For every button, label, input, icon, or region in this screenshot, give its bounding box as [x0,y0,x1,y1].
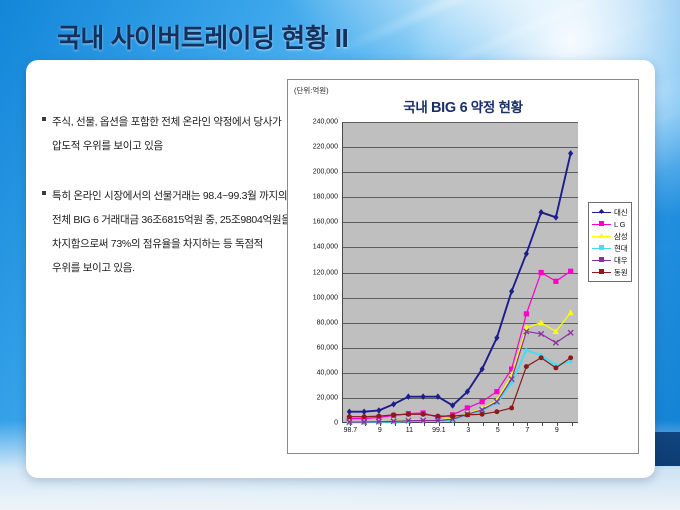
legend-label: L G [614,220,625,229]
chart-title-suffix: 약정 현황 [467,100,522,115]
chart-legend: 대신L G삼성현대대우동원 [588,202,632,282]
data-point-marker [450,414,455,419]
x-axis-tick-label: 11 [406,427,413,434]
y-axis-tick-label: 80,000 [317,319,338,326]
data-point-marker [362,414,367,419]
legend-label: 삼성 [614,231,627,242]
x-axis-tick-label: 3 [466,427,470,434]
legend-marker-icon [592,267,611,277]
data-point-marker [509,405,514,410]
data-point-marker [391,401,396,408]
legend-item-5: 대우 [592,254,627,266]
y-axis-tick-label: 160,000 [313,219,338,226]
data-point-marker [435,393,440,400]
data-point-marker [568,355,573,360]
data-point-marker [435,414,440,419]
chart-container: (단위:억원) 국내 BIG 6 약정 현황 240,000220,000200… [287,79,639,454]
y-axis-tick-label: 200,000 [313,169,338,176]
legend-marker-icon [592,219,611,229]
y-axis-tick-label: 140,000 [313,244,338,251]
series-대신 [347,150,573,415]
data-point-marker [553,214,558,221]
data-point-marker [568,330,573,335]
data-point-marker [362,408,367,415]
data-point-marker [480,412,485,417]
legend-label: 대우 [614,255,627,266]
y-axis-tick-label: 60,000 [317,344,338,351]
data-point-marker [568,150,573,157]
data-point-marker [406,412,411,417]
data-point-marker [347,408,352,415]
list-item: 특히 온라인 시장에서의 선물거래는 98.4~99.3월 까지의 전체 BIG… [42,184,292,280]
data-point-marker [376,407,381,414]
legend-marker-icon [592,231,611,241]
legend-label: 동원 [614,267,627,278]
series-삼성 [346,309,573,424]
data-point-marker [524,364,529,369]
x-axis-tick-label: 9 [378,427,382,434]
y-axis-tick-label: 120,000 [313,269,338,276]
chart-title-emphasis: BIG 6 [431,100,467,116]
data-point-marker [524,311,529,316]
data-point-marker [539,209,544,216]
bullet-square-icon [42,191,46,195]
data-point-marker [553,279,558,284]
content-panel: 주식, 선물, 옵션을 포함한 전체 온라인 약정에서 당사가 압도적 우위를 … [26,60,655,478]
data-point-marker [568,309,574,315]
data-point-marker [539,270,544,275]
bullet-list: 주식, 선물, 옵션을 포함한 전체 온라인 약정에서 당사가 압도적 우위를 … [42,110,292,306]
legend-item-2: L G [592,218,627,230]
series-line [349,271,570,418]
data-point-marker [465,405,470,410]
chart-unit-label: (단위:억원) [294,85,329,96]
y-axis-tick-label: 220,000 [313,144,338,151]
x-axis-tick-label: 9 [555,427,559,434]
chart-title: 국내 BIG 6 약정 현황 [288,96,638,116]
y-axis-tick-label: 240,000 [313,119,338,126]
y-axis-tick-label: 180,000 [313,194,338,201]
y-axis-tick-label: 0 [334,420,338,427]
data-point-marker [421,412,426,417]
y-axis-tick-label: 40,000 [317,369,338,376]
legend-item-1: 대신 [592,206,627,218]
plot-area-wrapper: 240,000220,000200,000180,000160,000140,0… [342,122,578,423]
legend-item-3: 삼성 [592,230,627,242]
list-item: 주식, 선물, 옵션을 포함한 전체 온라인 약정에서 당사가 압도적 우위를 … [42,110,292,158]
x-axis-tick-label: 7 [525,427,529,434]
data-point-marker [421,393,426,400]
light-streak [316,0,680,64]
legend-marker-icon [592,255,611,265]
chart-title-prefix: 국내 [403,100,431,115]
data-point-marker [568,269,573,274]
series-lines [342,122,578,423]
legend-marker-icon [592,243,611,253]
legend-label: 현대 [614,243,627,254]
y-axis-tick-label: 100,000 [313,294,338,301]
x-axis-tick-label: 98.7 [344,427,358,434]
data-point-marker [553,340,558,345]
page-title: 국내 사이버트레이딩 현황 II [57,18,348,55]
x-axis-tick-label: 99.1 [432,427,446,434]
data-point-marker [539,355,544,360]
bullet-text: 주식, 선물, 옵션을 포함한 전체 온라인 약정에서 당사가 압도적 우위를 … [52,110,292,158]
y-axis-tick-label: 20,000 [317,394,338,401]
data-point-marker [494,409,499,414]
data-point-marker [480,399,485,404]
bullet-square-icon [42,117,46,121]
data-point-marker [538,319,544,325]
series-line [349,313,570,422]
data-point-marker [376,414,381,419]
x-axis-tick-label: 5 [496,427,500,434]
data-point-marker [465,412,470,417]
data-point-marker [553,365,558,370]
legend-marker-icon [592,207,611,217]
legend-item-6: 동원 [592,266,627,278]
legend-label: 대신 [614,207,627,218]
data-point-marker [406,393,411,400]
data-point-marker [494,389,499,394]
legend-item-4: 현대 [592,242,627,254]
data-point-marker [347,414,352,419]
bullet-text: 특히 온라인 시장에서의 선물거래는 98.4~99.3월 까지의 전체 BIG… [52,184,292,280]
data-point-marker [391,412,396,417]
